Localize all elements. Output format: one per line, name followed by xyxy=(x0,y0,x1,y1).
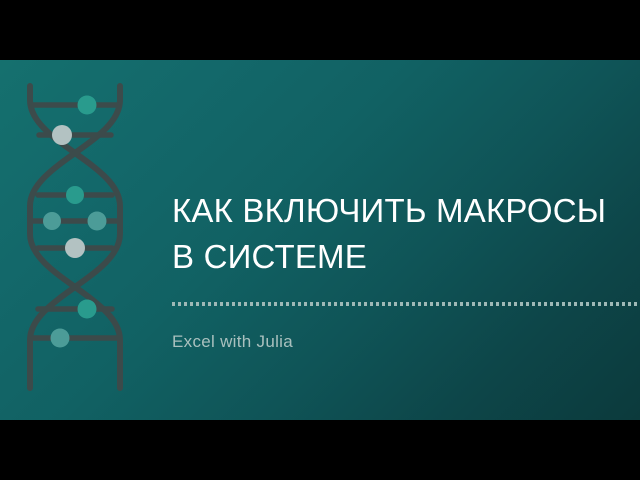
node-teal-bright-3 xyxy=(78,300,97,319)
letterbox-bar-top xyxy=(0,0,640,60)
node-teal-muted-1 xyxy=(43,212,61,230)
page-subtitle: Excel with Julia xyxy=(172,332,293,352)
node-teal-muted-3 xyxy=(51,329,70,348)
title-block: КАК ВКЛЮЧИТЬ МАКРОСЫ В СИСТЕМЕ xyxy=(172,188,640,280)
page-title-line-1: КАК ВКЛЮЧИТЬ МАКРОСЫ xyxy=(172,188,640,234)
dna-double-helix-icon xyxy=(16,80,140,400)
slide-canvas: КАК ВКЛЮЧИТЬ МАКРОСЫ В СИСТЕМЕ Excel wit… xyxy=(0,60,640,420)
slide-frame: КАК ВКЛЮЧИТЬ МАКРОСЫ В СИСТЕМЕ Excel wit… xyxy=(0,0,640,480)
node-gray-light-1 xyxy=(52,125,72,145)
node-teal-bright-1 xyxy=(78,96,97,115)
node-teal-muted-2 xyxy=(88,212,107,231)
node-teal-bright-2 xyxy=(66,186,84,204)
letterbox-bar-bottom xyxy=(0,420,640,480)
node-gray-light-2 xyxy=(65,238,85,258)
divider xyxy=(172,302,640,306)
page-title: КАК ВКЛЮЧИТЬ МАКРОСЫ В СИСТЕМЕ xyxy=(172,188,640,280)
page-title-line-2: В СИСТЕМЕ xyxy=(172,234,640,280)
